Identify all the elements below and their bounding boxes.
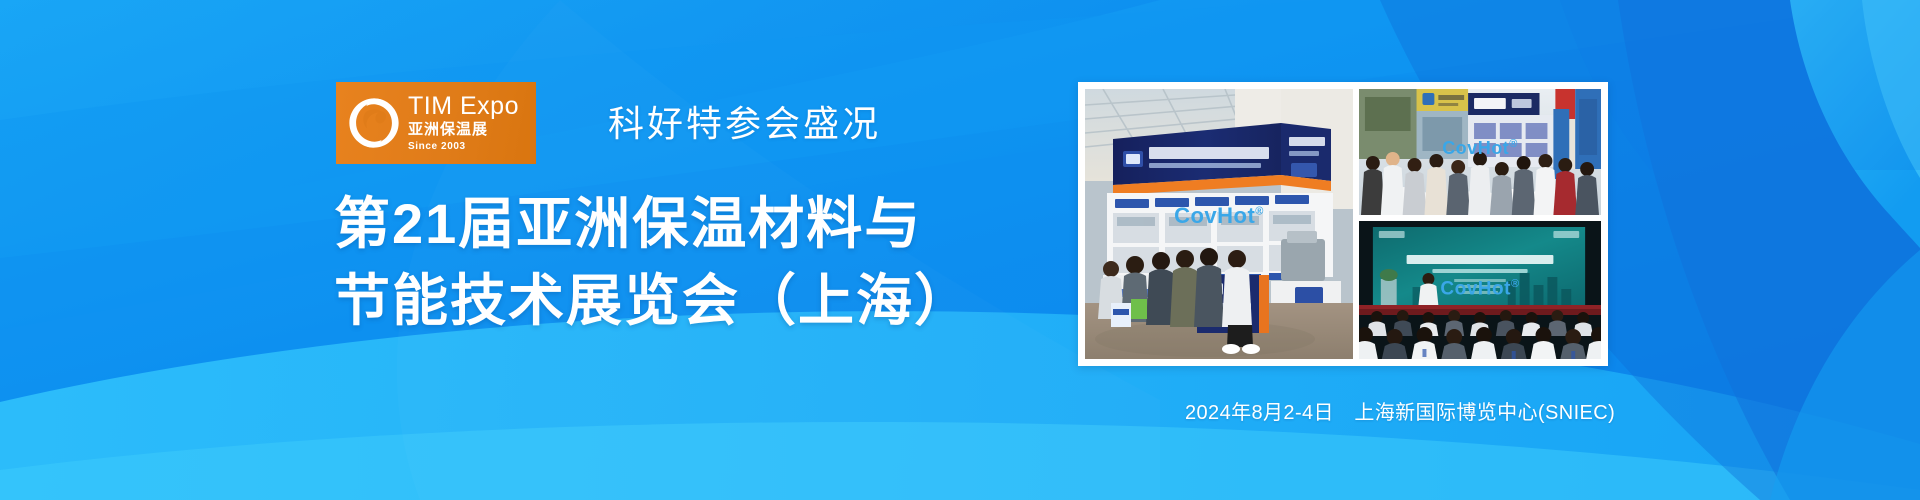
swoosh-circle-mark-icon xyxy=(346,95,402,151)
photo-collage[interactable]: CovHot® xyxy=(1078,82,1608,366)
logo-title-cn: 亚洲保温展 xyxy=(408,122,519,137)
banner-title: 第21届亚洲保温材料与 节能技术展览会（上海） xyxy=(334,185,972,340)
date-venue-label: 2024年8月2-4日 上海新国际博览中心(SNIEC) xyxy=(1185,396,1615,425)
logo-title-en: TIM Expo xyxy=(408,94,519,119)
photo-hall-crowd[interactable]: CovHot® xyxy=(1359,89,1601,215)
logo-text-group: TIM Expo 亚洲保温展 Since 2003 xyxy=(408,94,519,152)
expo-promo-banner: TIM Expo 亚洲保温展 Since 2003 科好特参会盛况 第21届亚洲… xyxy=(0,0,1920,500)
title-line-1: 第21届亚洲保温材料与 xyxy=(334,185,972,262)
logo-since-label: Since 2003 xyxy=(408,142,519,152)
photo-forum-session[interactable]: CovHot® xyxy=(1359,221,1601,359)
tim-expo-logo[interactable]: TIM Expo 亚洲保温展 Since 2003 xyxy=(336,82,536,164)
photo-booth-main[interactable]: CovHot® xyxy=(1085,89,1353,359)
photo-column-right: CovHot® xyxy=(1359,89,1601,359)
banner-subtitle: 科好特参会盛况 xyxy=(608,95,881,147)
title-line-2: 节能技术展览会（上海） xyxy=(334,262,972,339)
